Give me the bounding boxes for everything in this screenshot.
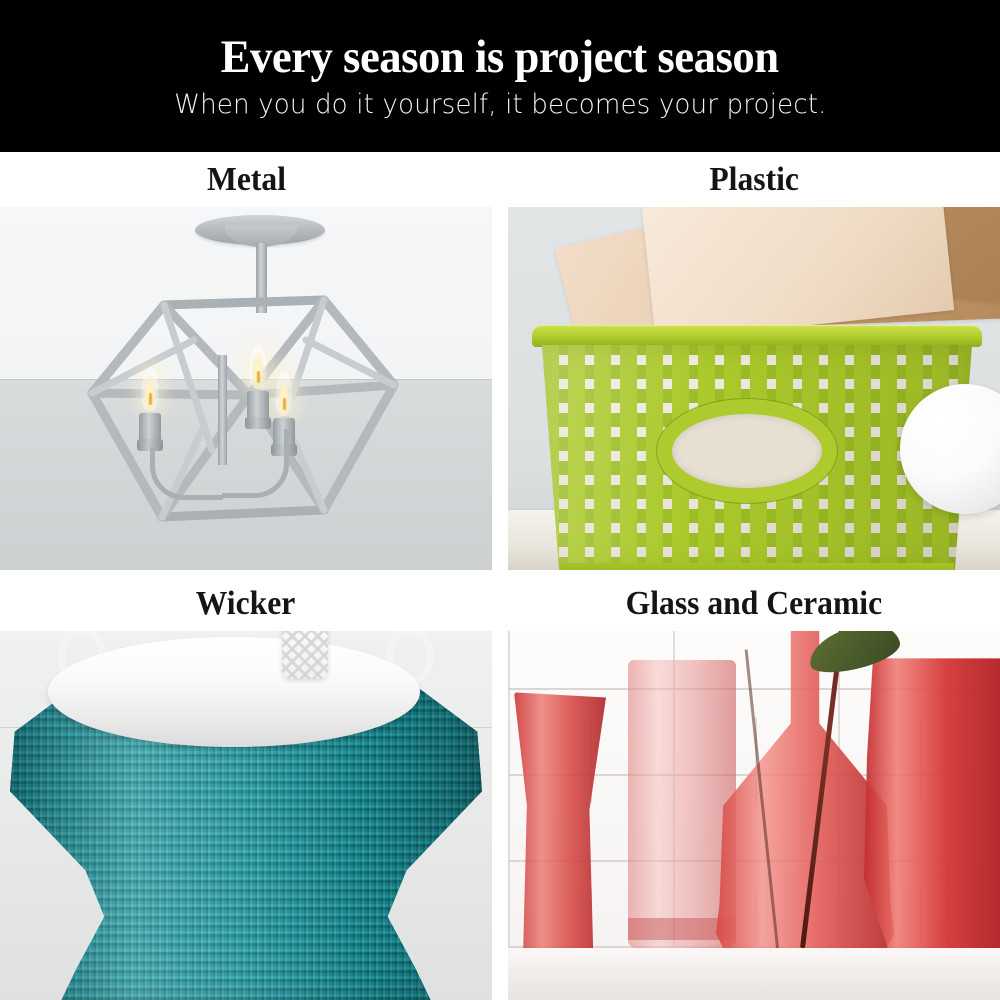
category-label-metal-text: Metal bbox=[206, 161, 285, 199]
poster-root: Every season is project season When you … bbox=[0, 0, 1000, 1000]
basket-base bbox=[560, 563, 954, 570]
bulb-socket-left bbox=[139, 413, 161, 443]
light-arm-right bbox=[222, 429, 289, 498]
category-cell-wicker[interactable]: Wicker bbox=[0, 576, 492, 1000]
category-label-wicker: Wicker bbox=[0, 576, 492, 631]
category-cell-glass-ceramic[interactable]: Glass and Ceramic bbox=[508, 576, 1000, 1000]
basket-rim bbox=[532, 325, 982, 347]
category-label-plastic-text: Plastic bbox=[709, 161, 799, 199]
category-cell-metal[interactable]: Metal bbox=[0, 152, 492, 570]
category-photo-wicker[interactable] bbox=[0, 631, 492, 1000]
page-title: Every season is project season bbox=[221, 34, 779, 81]
category-label-plastic: Plastic bbox=[508, 152, 1000, 207]
category-photo-glass-ceramic[interactable] bbox=[508, 631, 1000, 1000]
red-tapered-vase-right bbox=[864, 658, 1000, 948]
poster-header: Every season is project season When you … bbox=[0, 0, 1000, 152]
basket-oval-handle bbox=[657, 399, 837, 503]
category-cell-plastic[interactable]: Plastic bbox=[508, 152, 1000, 570]
category-label-wicker-text: Wicker bbox=[196, 585, 296, 623]
white-counter-surface bbox=[508, 948, 1000, 1000]
category-photo-metal[interactable] bbox=[0, 207, 492, 570]
bulb-socket-center bbox=[247, 391, 269, 421]
category-grid: Metal bbox=[0, 152, 1000, 1000]
category-label-glass-ceramic-text: Glass and Ceramic bbox=[626, 585, 882, 623]
page-subtitle: When you do it yourself, it becomes your… bbox=[174, 91, 826, 118]
white-textured-vase bbox=[282, 631, 328, 679]
light-center-rod bbox=[218, 355, 227, 465]
category-photo-plastic[interactable] bbox=[508, 207, 1000, 570]
white-round-tray bbox=[48, 637, 420, 747]
category-label-glass-ceramic: Glass and Ceramic bbox=[508, 576, 1000, 631]
category-label-metal: Metal bbox=[0, 152, 492, 207]
geometric-cage-frame bbox=[74, 245, 414, 555]
